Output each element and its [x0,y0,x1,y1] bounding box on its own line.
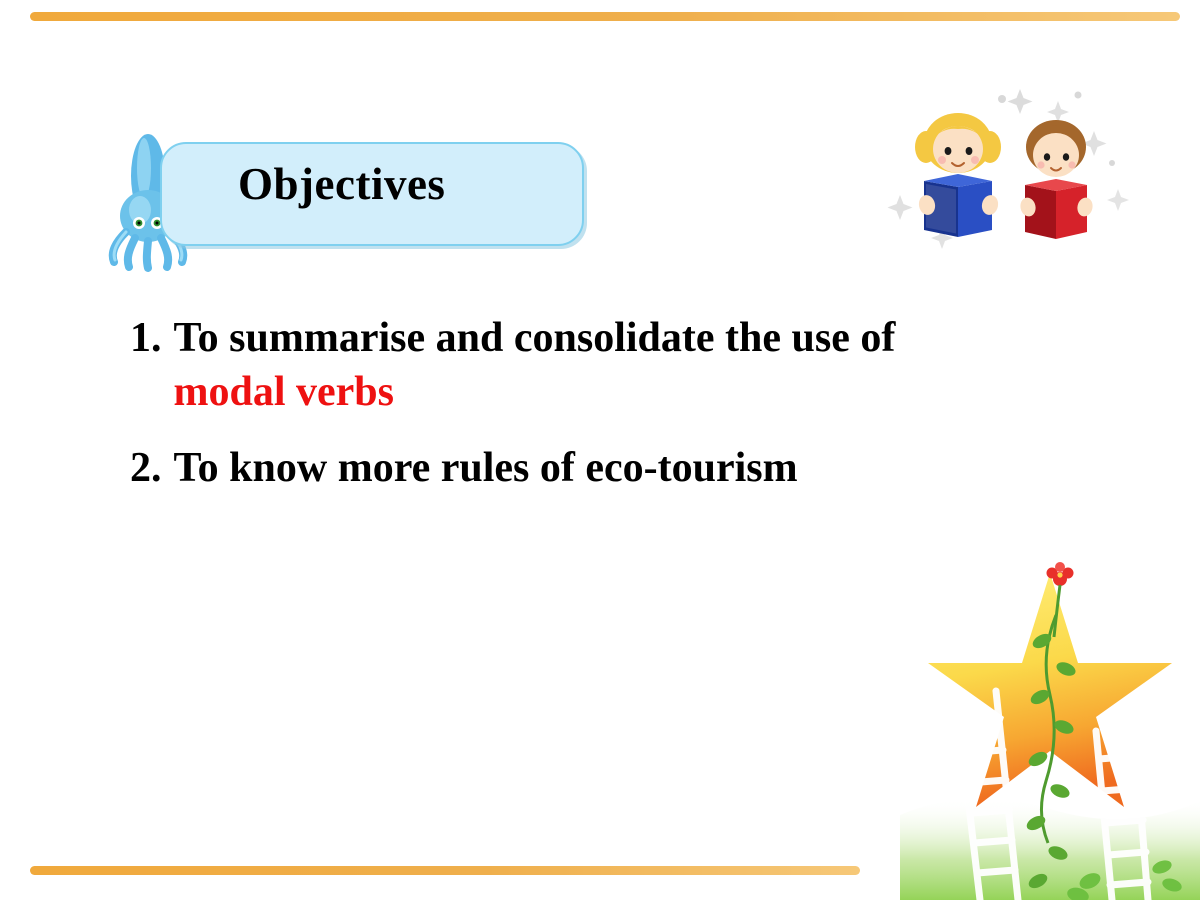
top-divider-rule [30,12,1180,21]
bottom-divider-rule [30,866,860,875]
list-item-highlight: modal verbs [174,369,395,415]
children-reading-icon [880,85,1130,270]
slide-canvas: Objectives [0,0,1200,900]
list-item-text: To know more rules of eco-tourism [174,442,798,496]
list-item: 1. To summarise and consolidate the use … [130,312,1080,420]
list-item: 2. To know more rules of eco-tourism [130,442,1080,496]
list-item-number: 1. [130,312,174,366]
star-ladder-decoration [900,545,1200,900]
list-item-text: To summarise and consolidate the use of … [174,312,974,420]
objectives-list: 1. To summarise and consolidate the use … [130,312,1080,517]
page-title: Objectives [238,158,568,210]
list-item-number: 2. [130,442,174,496]
list-item-text-before: To summarise and consolidate the use of [174,315,896,361]
